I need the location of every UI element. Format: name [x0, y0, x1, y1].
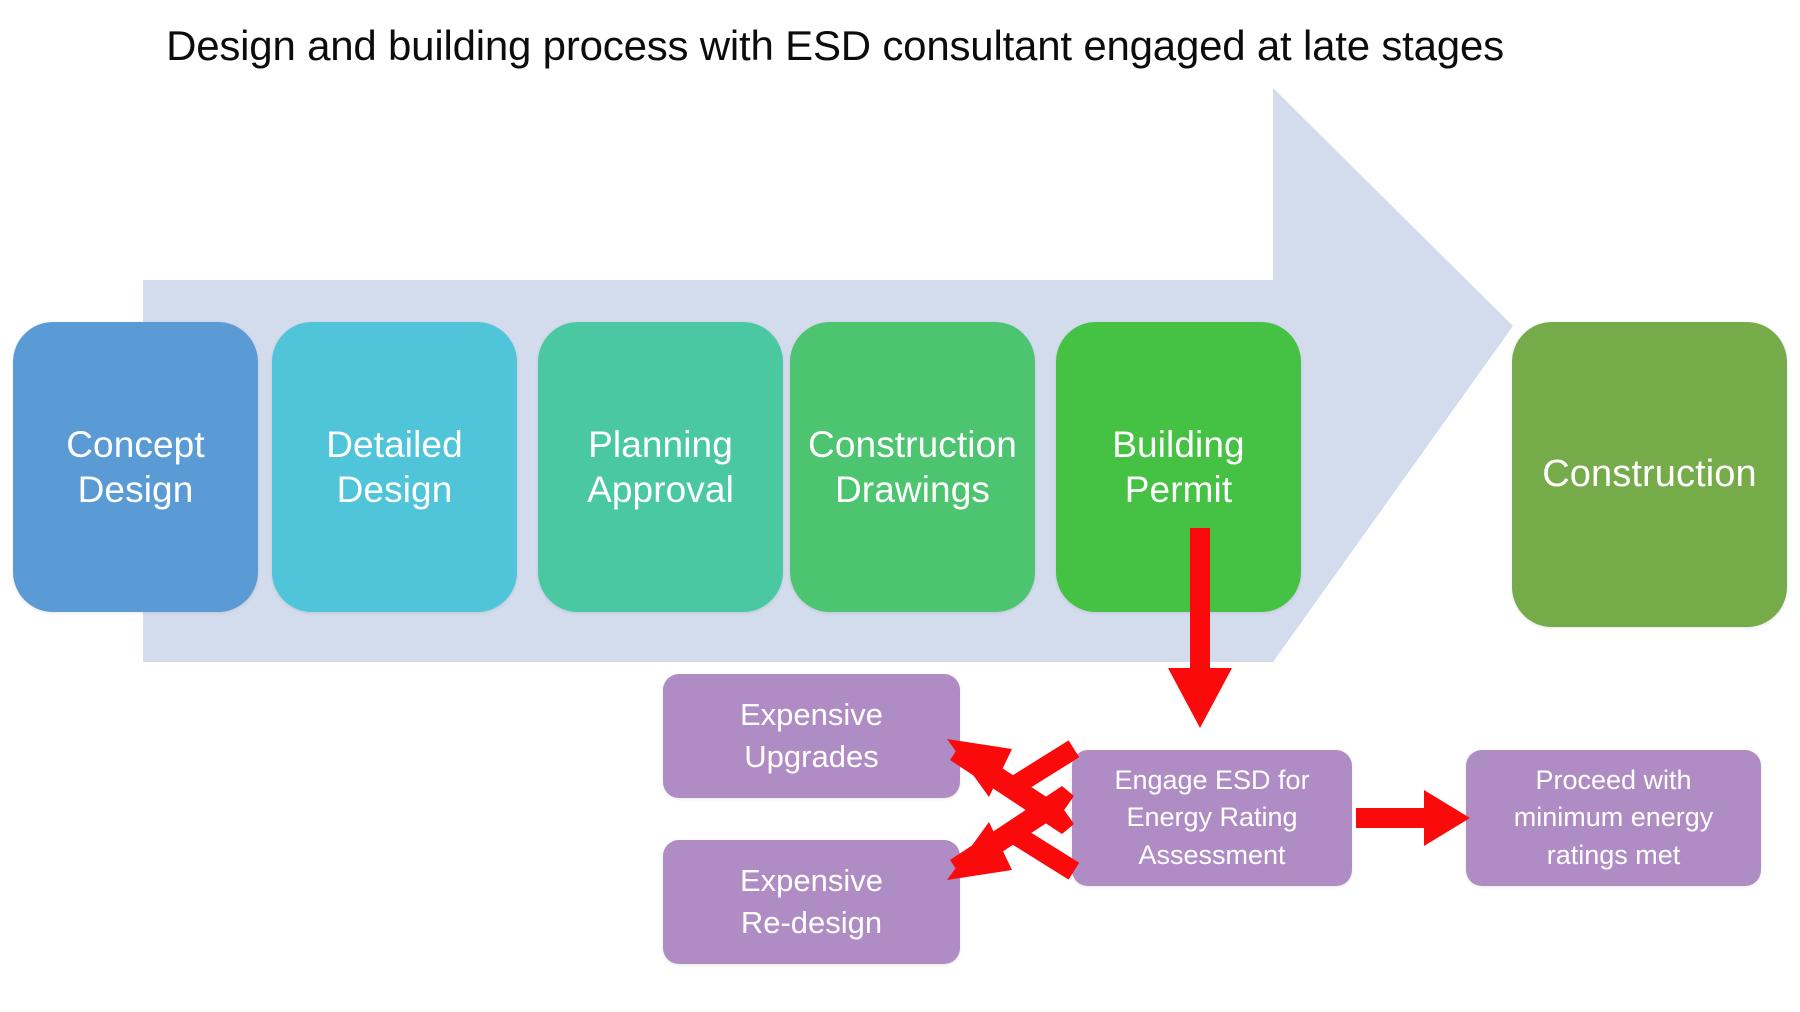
stage-label: Construction [1534, 451, 1765, 497]
stage-box-planning-approval[interactable]: Planning Approval [538, 322, 783, 612]
stage-box-construction-drawings[interactable]: Construction Drawings [790, 322, 1035, 612]
stage-box-building-permit[interactable]: Building Permit [1056, 322, 1301, 612]
connector-engage-esd-to-expensive-upgrades-arrow [947, 739, 1079, 834]
stage-label: Detailed Design [318, 422, 471, 512]
stage-box-construction[interactable]: Construction [1512, 322, 1787, 627]
connector-engage-esd-to-expensive-re-design-arrow [947, 786, 1079, 880]
note-label: Expensive Upgrades [730, 694, 893, 777]
note-box-proceed-minimum-ratings[interactable]: Proceed with minimum energy ratings met [1466, 750, 1761, 886]
note-box-expensive-upgrades[interactable]: Expensive Upgrades [663, 674, 960, 798]
stage-box-concept-design[interactable]: Concept Design [13, 322, 258, 612]
diagram-canvas: Design and building process with ESD con… [0, 0, 1800, 1012]
note-label: Expensive Re-design [730, 860, 893, 943]
stage-label: Building Permit [1104, 422, 1252, 512]
stage-label: Construction Drawings [800, 422, 1025, 512]
stage-label: Planning Approval [579, 422, 742, 512]
note-box-engage-esd-energy-rating[interactable]: Engage ESD for Energy Rating Assessment [1072, 750, 1352, 886]
page-title: Design and building process with ESD con… [0, 22, 1670, 70]
stage-label: Concept Design [58, 422, 213, 512]
note-label: Engage ESD for Energy Rating Assessment [1104, 762, 1319, 874]
note-label: Proceed with minimum energy ratings met [1504, 762, 1724, 874]
note-box-expensive-re-design[interactable]: Expensive Re-design [663, 840, 960, 964]
connector-engage-esd-to-proceed-arrow [1356, 790, 1470, 846]
stage-box-detailed-design[interactable]: Detailed Design [272, 322, 517, 612]
